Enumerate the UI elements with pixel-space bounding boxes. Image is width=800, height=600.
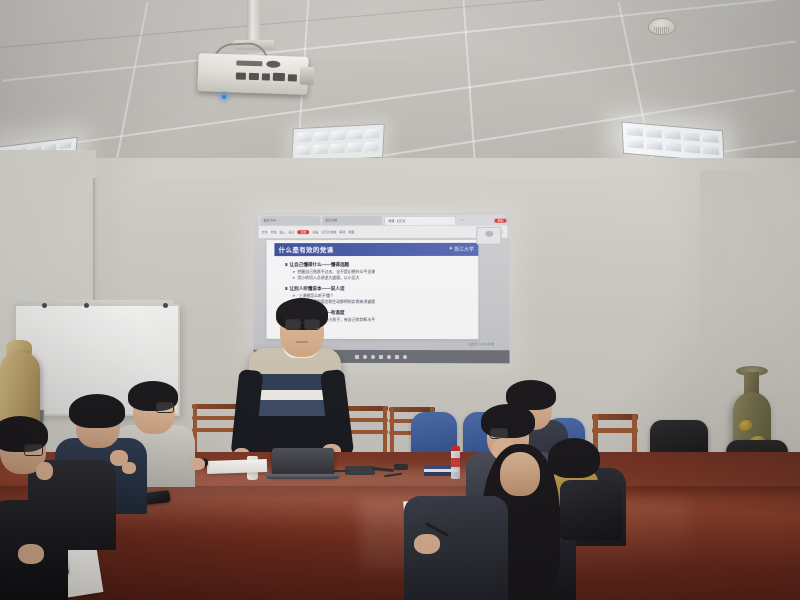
whiteboard-clip [42, 303, 47, 308]
presenter-glasses [304, 319, 320, 330]
slide-subbullet: ➤用小的切入点讲述大道理，以小见大 [292, 275, 468, 281]
mail-icon[interactable] [387, 355, 391, 359]
ribbon-tab-home[interactable]: 开始 [271, 230, 277, 234]
ribbon-tab-transitions[interactable]: 切换 [297, 230, 309, 234]
backpack [560, 480, 622, 540]
settings-icon[interactable] [403, 355, 407, 359]
ribbon-tab-animations[interactable]: 动画 [312, 230, 318, 234]
record-button[interactable]: 录制 [494, 218, 506, 222]
glasses-bridge [299, 322, 304, 323]
tab-new[interactable]: + [458, 216, 476, 225]
ribbon-tab-insert[interactable]: 插入 [280, 230, 286, 234]
student-glasses [156, 402, 174, 413]
student-hand [18, 544, 44, 564]
tab-label: 党课 - 幻灯片 [388, 219, 406, 223]
logo-text: 浙江大学 [454, 246, 474, 253]
slide-counter: 幻灯片 12 共 28 张 [469, 342, 494, 346]
tab-active-slides[interactable]: 党课 - 幻灯片 [384, 215, 456, 225]
classroom-scene: 会议 50% 演示文稿 党课 - 幻灯片 + 录制 文件 开始 插入 设计 切换… [0, 0, 800, 600]
slide-bullet-1: 让自己懂得什么——懂得选题 [285, 262, 468, 268]
student-hand [414, 534, 440, 554]
document-papers [207, 459, 267, 474]
webcam-thumbnail[interactable] [477, 226, 502, 245]
folder-icon[interactable] [379, 355, 383, 359]
slide-subbullet: ➤“上课哪怎么听不懂”？ [292, 293, 468, 299]
tab-label: 会议 50% [264, 219, 277, 223]
laptop[interactable] [272, 448, 334, 476]
ribbon-toolbar: 文件 开始 插入 设计 切换 动画 幻灯片放映 审阅 视图 告诉我你想做什么 [259, 225, 508, 238]
student-glasses [24, 444, 43, 456]
cable-hub [345, 466, 375, 475]
laptop-base [266, 474, 340, 479]
ceiling-light-panel [291, 124, 385, 163]
student-hair [69, 394, 125, 428]
whiteboard-clip [84, 303, 89, 308]
student-hand [122, 462, 136, 474]
presenter-hair-fringe [278, 300, 326, 320]
cable [394, 464, 408, 470]
projector-power-led [222, 95, 226, 99]
tab-meeting[interactable]: 会议 50% [261, 216, 321, 225]
slide-bullet-2: 让别人听懂说本——说人话 [285, 286, 468, 292]
slide-subbullet: ➤把握自己熟悉不过去、全不是幻想外众平全课 [292, 269, 468, 275]
student-hair [548, 438, 600, 478]
start-icon[interactable] [355, 355, 359, 359]
university-logo: ✦ 浙江大学 [449, 246, 474, 253]
tab-label: 演示文稿 [325, 219, 337, 223]
ribbon-tab-file[interactable]: 文件 [262, 230, 268, 234]
slide-title: 什么是有效的党课 [279, 244, 334, 254]
search-icon[interactable] [363, 355, 367, 359]
ribbon-tab-review[interactable]: 审阅 [339, 230, 345, 234]
ribbon-tab-design[interactable]: 设计 [288, 230, 294, 234]
app-tab-bar: 会议 50% 演示文稿 党课 - 幻灯片 + 录制 [259, 215, 507, 226]
bottle-label [451, 458, 460, 467]
slide-title-bar: 什么是有效的党课 ✦ 浙江大学 [275, 243, 478, 256]
whiteboard-clip [163, 303, 168, 308]
smoke-detector-icon [648, 18, 676, 35]
tab-presentation[interactable]: 演示文稿 [322, 216, 382, 225]
student-hand [36, 462, 53, 480]
ceiling-projector [197, 53, 308, 95]
tab-label: + [461, 218, 463, 222]
cable [333, 470, 349, 472]
chat-icon[interactable] [395, 355, 399, 359]
ribbon-tab-view[interactable]: 视图 [348, 230, 354, 234]
browser-icon[interactable] [371, 355, 375, 359]
presenter-glasses [285, 319, 301, 330]
ribbon-tab-slideshow[interactable]: 幻灯片放映 [321, 230, 336, 234]
student-head [500, 452, 540, 496]
student-hand [189, 458, 205, 470]
bottle-cap [451, 446, 460, 451]
